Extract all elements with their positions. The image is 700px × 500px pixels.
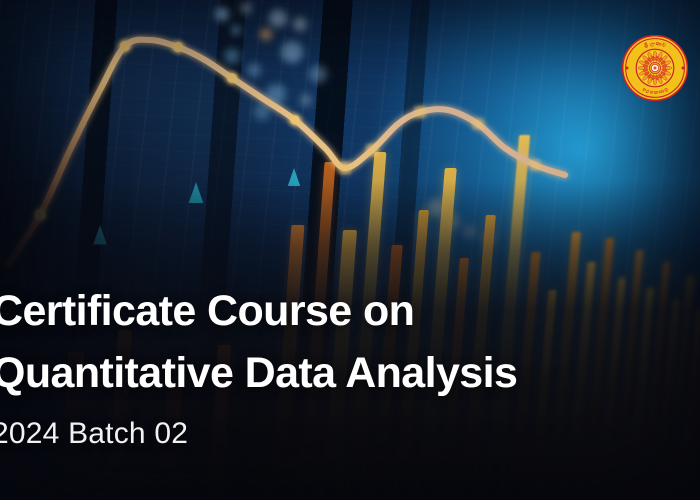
banner-subtitle: 2024 Batch 02 bbox=[0, 414, 700, 454]
course-banner: ශ්‍රී ලංකාව මහානගරය Certificate Course o… bbox=[0, 0, 700, 500]
banner-title-line-2: Quantitative Data Analysis bbox=[0, 342, 700, 404]
institution-emblem-icon: ශ්‍රී ලංකාව මහානගරය bbox=[622, 35, 688, 101]
banner-title-line-1: Certificate Course on bbox=[0, 280, 700, 342]
banner-text-block: Certificate Course on Quantitative Data … bbox=[0, 280, 700, 454]
